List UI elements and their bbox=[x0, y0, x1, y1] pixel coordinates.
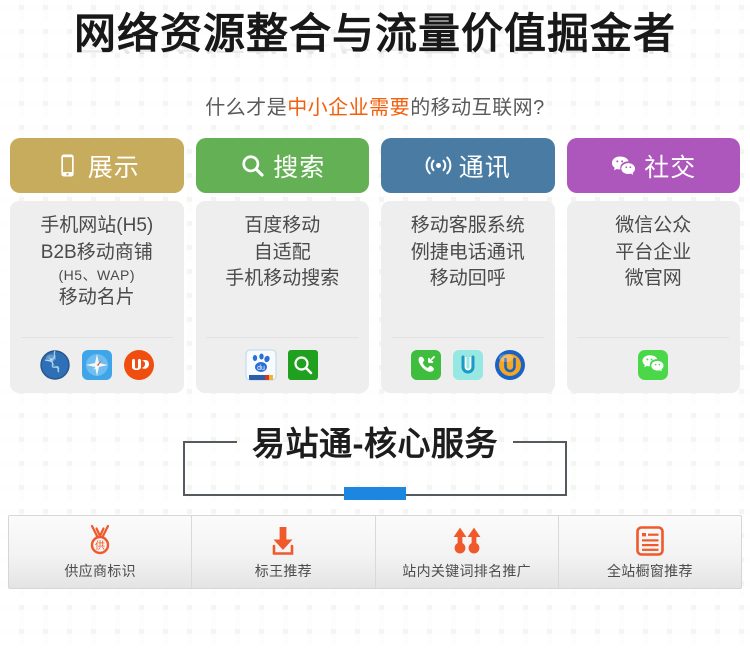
card-line: 手机网站(H5) bbox=[10, 213, 184, 239]
card-line: 平台企业 bbox=[567, 240, 741, 266]
safari-compass-icon[interactable] bbox=[81, 349, 113, 381]
card-text-block: 微信公众 平台企业 微官网 bbox=[567, 213, 741, 337]
card-tab-label: 搜索 bbox=[273, 148, 325, 184]
card-text-block: 手机网站(H5) B2B移动商铺 (H5、WAP) 移动名片 bbox=[10, 213, 184, 337]
feature-label: 标王推荐 bbox=[255, 561, 312, 581]
card-line: 微信公众 bbox=[567, 213, 741, 239]
card-tab-display[interactable]: 展示 bbox=[10, 138, 184, 193]
card-line: 移动客服系统 bbox=[381, 213, 555, 239]
baidu-icon[interactable]: du bbox=[245, 349, 277, 381]
feature-bar: 供 供应商标识 标王推荐 bbox=[8, 515, 742, 589]
showcase-list-icon bbox=[633, 523, 667, 559]
green-search-icon[interactable] bbox=[287, 349, 319, 381]
hero-subtitle: 什么才是中小企业需要的移动互联网? bbox=[0, 91, 750, 120]
card-app-icons: du bbox=[206, 337, 358, 393]
card-tab-communication[interactable]: 通讯 bbox=[381, 138, 555, 193]
phone-callback-icon[interactable] bbox=[410, 349, 442, 381]
wechat-icon bbox=[610, 152, 637, 179]
broadcast-signal-icon bbox=[425, 152, 452, 179]
feature-supplier-badge[interactable]: 供 供应商标识 bbox=[9, 516, 192, 588]
promo-page: 网络资源整合与流量价值掘金者 网络资源整合与流量价值掘金者 什么才是中小企业需要… bbox=[0, 0, 750, 653]
card-line: (H5、WAP) bbox=[10, 266, 184, 285]
service-card-grid: 展示 手机网站(H5) B2B移动商铺 (H5、WAP) 移动名片 bbox=[0, 120, 750, 393]
service-card-social[interactable]: 社交 微信公众 平台企业 微官网 bbox=[567, 138, 741, 393]
card-body-search: 百度移动 自适配 手机移动搜索 bbox=[196, 201, 370, 393]
feature-top-recommend[interactable]: 标王推荐 bbox=[192, 516, 375, 588]
service-card-search[interactable]: 搜索 百度移动 自适配 手机移动搜索 bbox=[196, 138, 370, 393]
download-arrow-icon bbox=[266, 523, 300, 559]
card-tab-social[interactable]: 社交 bbox=[567, 138, 741, 193]
section-title: 易站通-核心服务 bbox=[183, 417, 567, 465]
card-line: 移动回呼 bbox=[381, 266, 555, 292]
u-light-icon[interactable] bbox=[452, 349, 484, 381]
card-tab-label: 展示 bbox=[88, 148, 140, 184]
uc-browser-icon[interactable] bbox=[123, 349, 155, 381]
card-tab-label: 社交 bbox=[644, 148, 696, 184]
double-up-arrow-icon bbox=[448, 523, 486, 559]
hero-subtitle-after: 的移动互联网? bbox=[410, 97, 545, 119]
wechat-app-icon[interactable] bbox=[637, 349, 669, 381]
accent-bar bbox=[344, 487, 406, 500]
card-tab-search[interactable]: 搜索 bbox=[196, 138, 370, 193]
search-icon bbox=[239, 152, 266, 179]
feature-label: 站内关键词排名推广 bbox=[402, 561, 531, 581]
feature-showcase[interactable]: 全站橱窗推荐 bbox=[559, 516, 741, 588]
card-body-social: 微信公众 平台企业 微官网 bbox=[567, 201, 741, 393]
service-card-communication[interactable]: 通讯 移动客服系统 例捷电话通讯 移动回呼 bbox=[381, 138, 555, 393]
card-text-block: 百度移动 自适配 手机移动搜索 bbox=[196, 213, 370, 337]
section-title-text: 易站通-核心服务 bbox=[240, 417, 510, 465]
feature-label: 全站橱窗推荐 bbox=[607, 561, 693, 581]
hero-subtitle-before: 什么才是 bbox=[205, 97, 287, 119]
card-line: 百度移动 bbox=[196, 213, 370, 239]
u-orb-icon[interactable] bbox=[494, 349, 526, 381]
card-line: 自适配 bbox=[196, 240, 370, 266]
card-line: B2B移动商铺 bbox=[10, 240, 184, 266]
service-card-display[interactable]: 展示 手机网站(H5) B2B移动商铺 (H5、WAP) 移动名片 bbox=[10, 138, 184, 393]
section-heading: 易站通-核心服务 bbox=[183, 417, 567, 499]
card-line: 例捷电话通讯 bbox=[381, 240, 555, 266]
svg-text:供: 供 bbox=[95, 539, 105, 552]
card-body-communication: 移动客服系统 例捷电话通讯 移动回呼 bbox=[381, 201, 555, 393]
hero-subtitle-highlight: 中小企业需要 bbox=[287, 97, 410, 119]
feature-label: 供应商标识 bbox=[64, 561, 136, 581]
card-tab-label: 通讯 bbox=[459, 148, 511, 184]
globe-browser-icon[interactable] bbox=[39, 349, 71, 381]
page-title: 网络资源整合与流量价值掘金者 bbox=[0, 10, 750, 58]
card-line: 移动名片 bbox=[10, 285, 184, 311]
feature-keyword-ranking[interactable]: 站内关键词排名推广 bbox=[376, 516, 559, 588]
supplier-medal-icon: 供 bbox=[83, 523, 117, 559]
card-line: 微官网 bbox=[567, 266, 741, 292]
card-body-display: 手机网站(H5) B2B移动商铺 (H5、WAP) 移动名片 bbox=[10, 201, 184, 393]
svg-text:du: du bbox=[257, 365, 265, 372]
card-app-icons bbox=[21, 337, 173, 393]
card-app-icons bbox=[577, 337, 729, 393]
hero-section: 网络资源整合与流量价值掘金者 网络资源整合与流量价值掘金者 什么才是中小企业需要… bbox=[0, 0, 750, 120]
card-line: 手机移动搜索 bbox=[196, 266, 370, 292]
mobile-phone-icon bbox=[54, 152, 81, 179]
card-app-icons bbox=[392, 337, 544, 393]
card-text-block: 移动客服系统 例捷电话通讯 移动回呼 bbox=[381, 213, 555, 337]
